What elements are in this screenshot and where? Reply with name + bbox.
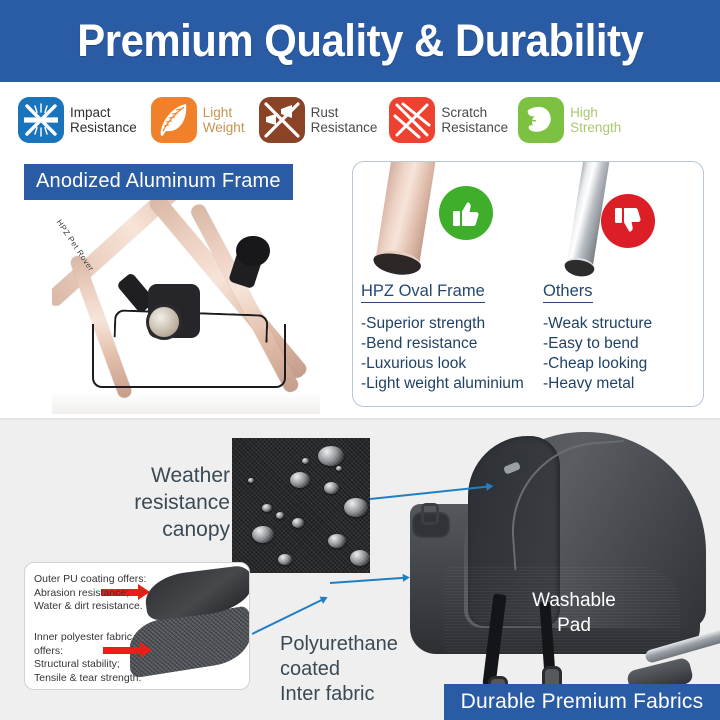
feature-label: Light Weight [203, 105, 245, 135]
feature-scratch-resistance: Scratch Resistance [389, 97, 508, 143]
polyurethane-coated-inter-fabric-label: Polyurethane coated Inter fabric [280, 632, 398, 707]
list-item: -Weak structure [543, 314, 652, 334]
list-item: -Light weight aluminium [361, 374, 524, 394]
list-item: -Superior strength [361, 314, 524, 334]
comparison-heading-right: Others [543, 282, 593, 303]
page-title: Premium Quality & Durability [77, 15, 643, 67]
thumbs-down-icon [601, 194, 655, 248]
connector-arrow-fabric [252, 599, 323, 635]
feature-rust-resistance: Rust Resistance [259, 97, 378, 143]
bassinet-handle [412, 512, 450, 538]
bottom-section: Weather resistance canopy [0, 420, 720, 720]
fabric-layers-callout-card: Outer PU coating offers: Abrasion resist… [24, 562, 250, 690]
bassinet-photo: Washable Pad [392, 426, 720, 714]
frame-hub-dial [146, 304, 182, 340]
middle-section: Anodized Aluminum Frame HPZ Pet Rover [0, 156, 720, 420]
inner-polyester-fabric-text: Inner polyester fabric offers: Structura… [34, 631, 141, 685]
frame-comparison-card: HPZ Oval Frame Others -Superior strength… [352, 161, 704, 407]
header-banner: Premium Quality & Durability [0, 0, 720, 82]
no-rust-icon [259, 97, 305, 143]
list-item: -Luxurious look [361, 354, 524, 374]
biceps-icon [518, 97, 564, 143]
durable-premium-fabrics-badge: Durable Premium Fabrics [444, 684, 720, 720]
feature-label: Impact Resistance [70, 105, 137, 135]
washable-pad-label: Washable Pad [504, 588, 644, 638]
frame-cap [236, 236, 270, 266]
water-droplets-fabric-photo [232, 438, 370, 573]
floor-shadow [52, 392, 320, 414]
feature-label: Rust Resistance [311, 105, 378, 135]
hpz-oval-pipe-image [375, 161, 439, 269]
list-item: -Heavy metal [543, 374, 652, 394]
feature-impact-resistance: Impact Resistance [18, 97, 137, 143]
comparison-list-right: -Weak structure -Easy to bend -Cheap loo… [543, 314, 652, 394]
feature-high-strength: High Strength [518, 97, 621, 143]
feather-icon [151, 97, 197, 143]
feature-icon-row: Impact Resistance Light Weight [0, 84, 720, 156]
feature-light-weight: Light Weight [151, 97, 245, 143]
feature-label: High Strength [570, 105, 621, 135]
stroller-frame-photo: HPZ Pet Rover [52, 196, 320, 414]
feature-label: Scratch Resistance [441, 105, 508, 135]
list-item: -Bend resistance [361, 334, 524, 354]
no-scratch-icon [389, 97, 435, 143]
outer-pu-coating-text: Outer PU coating offers: Abrasion resist… [34, 573, 146, 614]
comparison-list-left: -Superior strength -Bend resistance -Lux… [361, 314, 524, 394]
anodized-aluminum-frame-badge: Anodized Aluminum Frame [24, 164, 293, 200]
comparison-heading-left: HPZ Oval Frame [361, 282, 485, 303]
thumbs-up-icon [439, 186, 493, 240]
impact-burst-icon [18, 97, 64, 143]
list-item: -Cheap looking [543, 354, 652, 374]
weather-resistance-canopy-label: Weather resistance canopy [100, 462, 230, 543]
infographic-page: Premium Quality & Durability [0, 0, 720, 720]
list-item: -Easy to bend [543, 334, 652, 354]
